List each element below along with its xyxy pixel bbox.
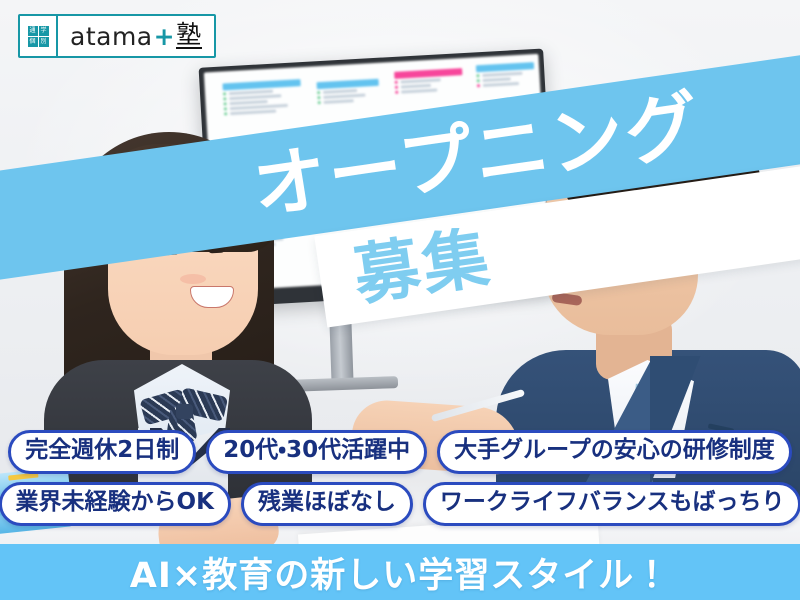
benefit-tag: 大手グループの安心の研修制度 bbox=[437, 430, 792, 474]
logo-badge-char-2: 学 bbox=[39, 26, 49, 36]
logo-badge-char-1: 通 bbox=[28, 26, 38, 36]
logo-badge-char-4: 別 bbox=[39, 37, 49, 47]
logo-plus-icon: + bbox=[154, 22, 175, 51]
logo-badge: 通 学 個 別 bbox=[20, 16, 58, 56]
logo-badge-char-3: 個 bbox=[28, 37, 38, 47]
student-blush bbox=[180, 274, 206, 284]
logo-suffix: 塾 bbox=[176, 23, 202, 49]
recruitment-banner: オープニング 募集 通 学 個 別 atama+塾 完全週休2日制 20代・30… bbox=[0, 0, 800, 600]
benefit-tag: 20代・30代活躍中 bbox=[206, 430, 427, 474]
benefit-tag: 完全週休2日制 bbox=[8, 430, 196, 474]
tagline-text: AI×教育の新しい学習スタイル！ bbox=[130, 547, 670, 598]
logo-wordmark: atama+塾 bbox=[58, 16, 214, 56]
benefit-tag-row-1: 完全週休2日制 20代・30代活躍中 大手グループの安心の研修制度 bbox=[8, 430, 791, 474]
benefit-tag: 残業ほぼなし bbox=[241, 482, 413, 526]
logo-brand-name: atama bbox=[70, 22, 153, 51]
logo-badge-grid: 通 学 個 別 bbox=[27, 25, 50, 48]
benefit-tag-group: 完全週休2日制 20代・30代活躍中 大手グループの安心の研修制度 業界未経験か… bbox=[0, 430, 800, 526]
benefit-tag: 業界未経験からOK bbox=[0, 482, 231, 526]
brand-logo[interactable]: 通 学 個 別 atama+塾 bbox=[18, 14, 216, 58]
headline-line2: 募集 bbox=[350, 225, 496, 310]
tagline-bar: AI×教育の新しい学習スタイル！ bbox=[0, 544, 800, 600]
benefit-tag: ワークライフバランスもばっちり bbox=[423, 482, 800, 526]
benefit-tag-row-2: 業界未経験からOK 残業ほぼなし ワークライフバランスもばっちり bbox=[0, 482, 800, 526]
